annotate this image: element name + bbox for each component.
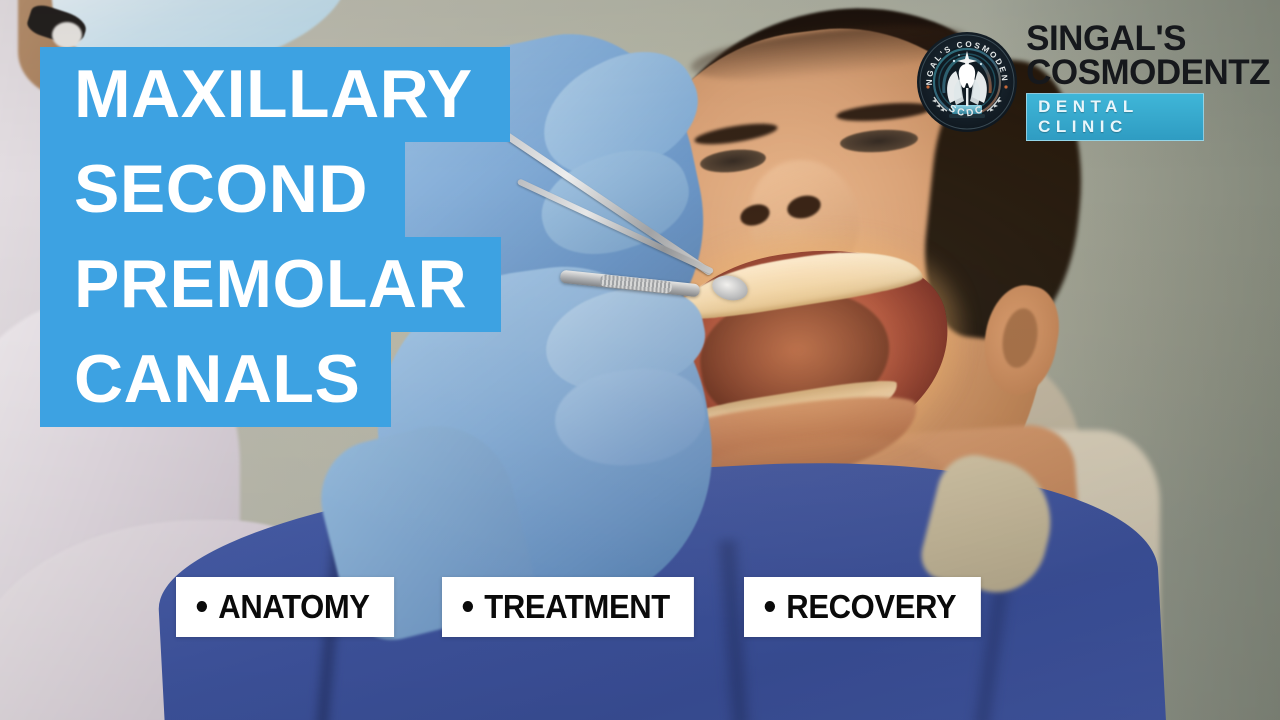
clinic-emblem-icon: SINGAL'S COSMODENTZ SCDC xyxy=(916,31,1018,133)
title-line-1: MAXILLARY xyxy=(40,47,510,142)
clinic-wordmark: SINGAL'S COSMODENTZ DENTAL CLINIC xyxy=(1026,22,1270,141)
badge-label: RECOVERY xyxy=(787,590,957,623)
title-line-2: SECOND xyxy=(40,142,405,237)
thumbnail-canvas: MAXILLARY SECOND PREMOLAR CANALS ANATOMY… xyxy=(0,0,1280,720)
badge-recovery: RECOVERY xyxy=(744,577,981,637)
bullet-icon xyxy=(197,601,207,612)
badge-anatomy: ANATOMY xyxy=(176,577,394,637)
clinic-logo: SINGAL'S COSMODENTZ SCDC SINGAL'S COSMOD… xyxy=(916,22,1270,141)
title-line-3: PREMOLAR xyxy=(40,237,501,332)
page-title: MAXILLARY SECOND PREMOLAR CANALS xyxy=(40,47,510,427)
bullet-icon xyxy=(765,601,775,612)
title-line-4: CANALS xyxy=(40,332,391,427)
bullet-icon xyxy=(463,601,473,612)
badge-label: TREATMENT xyxy=(484,590,670,623)
topic-badge-list: ANATOMY TREATMENT RECOVERY xyxy=(176,577,996,637)
badge-treatment: TREATMENT xyxy=(442,577,694,637)
mask-strap-highlight xyxy=(52,22,82,48)
brand-name-line2: COSMODENTZ xyxy=(1026,56,1270,90)
brand-name-line1: SINGAL'S xyxy=(1026,22,1186,56)
clinic-tagline: DENTAL CLINIC xyxy=(1026,93,1204,141)
badge-label: ANATOMY xyxy=(218,590,369,623)
